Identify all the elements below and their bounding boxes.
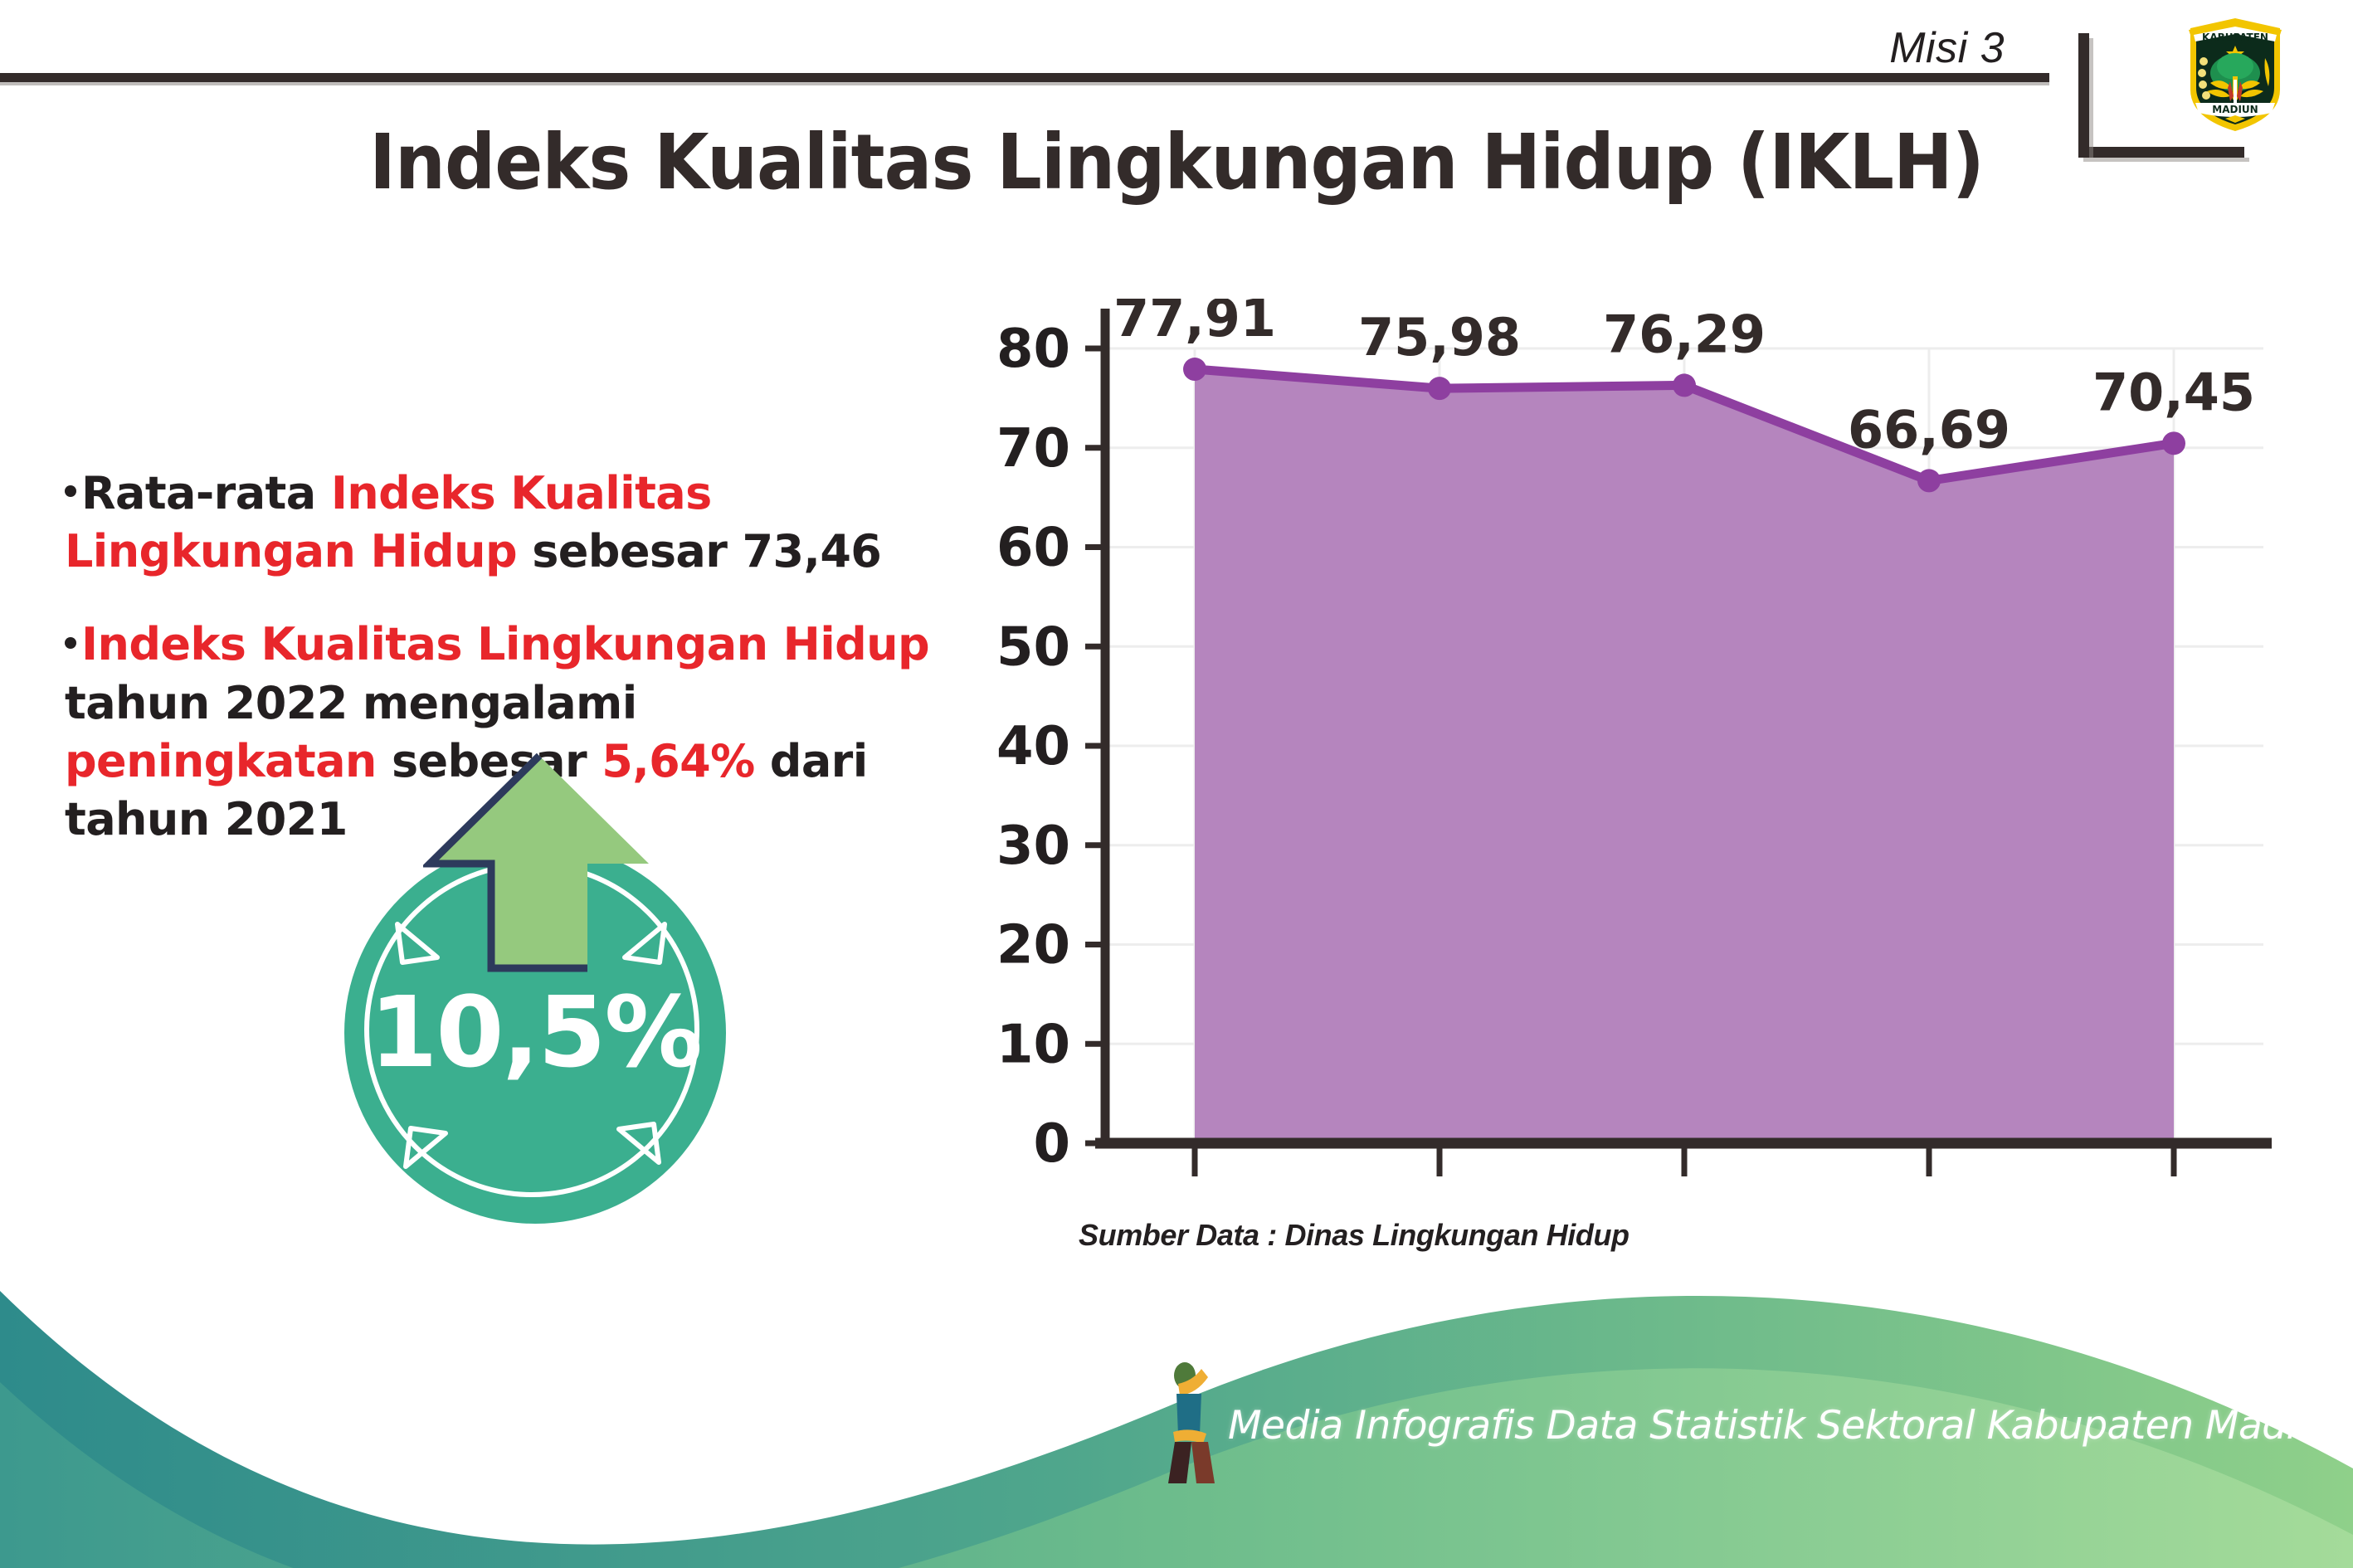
iklh-area-chart: 77,9175,9876,2966,6970,45010203040506070… — [979, 299, 2282, 1195]
y-axis-tick-label: 20 — [996, 915, 1070, 976]
y-axis-tick-label: 40 — [996, 716, 1070, 777]
x-axis-tick-label: 2019 — [1363, 1185, 1516, 1195]
badge-arrow-bl-icon — [402, 1120, 452, 1170]
bullet-dot-icon — [65, 637, 76, 649]
header-divider-shadow — [0, 82, 2049, 85]
badge-arrow-br-icon — [612, 1116, 662, 1166]
kabupaten-madiun-crest-icon: KABUPATEN MADIUN — [2182, 10, 2288, 134]
y-axis-tick-label: 60 — [996, 518, 1070, 579]
y-axis-tick-label: 70 — [996, 418, 1070, 480]
bullet-2-seg-0: Indeks Kualitas Lingkungan Hidup — [81, 618, 929, 670]
y-axis-tick-label: 50 — [996, 616, 1070, 678]
data-label: 75,98 — [1358, 307, 1521, 368]
bullet-1-seg-2: sebesar 73,46 — [517, 525, 881, 577]
y-axis-tick-label: 30 — [996, 816, 1070, 877]
misi-label: Misi 3 — [1889, 23, 2005, 73]
x-axis-tick-label: 2022 — [2097, 1185, 2250, 1195]
x-axis-tick-label: 2018 — [1118, 1185, 1271, 1195]
svg-text:KABUPATEN: KABUPATEN — [2202, 32, 2268, 43]
y-axis-tick-label: 80 — [996, 319, 1070, 380]
footer-caption: Media Infografis Data Statistik Sektoral… — [1228, 1403, 2353, 1449]
y-axis-tick-label: 0 — [1033, 1113, 1070, 1175]
list-item: Rata-rata Indeks Kualitas Lingkungan Hid… — [65, 465, 961, 581]
x-axis-tick-label: 2021 — [1853, 1185, 2005, 1195]
media-infografis-logo-icon — [1153, 1356, 1233, 1488]
up-arrow-icon — [423, 751, 655, 975]
bullet-2-seg-1: tahun 2022 mengalami — [65, 677, 637, 729]
data-label: 77,91 — [1113, 299, 1276, 348]
bullet-1-seg-0: Rata-rata — [81, 467, 331, 519]
data-label: 66,69 — [1848, 399, 2010, 460]
data-label: 76,29 — [1603, 304, 1766, 364]
data-label: 70,45 — [2092, 362, 2255, 422]
badge-value: 10,5% — [344, 975, 726, 1089]
slide-canvas: Misi 3 KABUPATEN — [0, 0, 2353, 1568]
page-title: Indeks Kualitas Lingkungan Hidup (IKLH) — [82, 118, 2270, 207]
increase-badge: 10,5% — [324, 751, 755, 1215]
header-divider-rule — [0, 73, 2049, 82]
y-axis-tick-label: 10 — [996, 1014, 1070, 1075]
svg-text:MADIUN: MADIUN — [2212, 104, 2258, 115]
x-axis-tick-label: 2020 — [1608, 1185, 1761, 1195]
footer-wave: Media Infografis Data Statistik Sektoral… — [0, 1220, 2353, 1568]
bullet-dot-icon — [65, 485, 76, 497]
